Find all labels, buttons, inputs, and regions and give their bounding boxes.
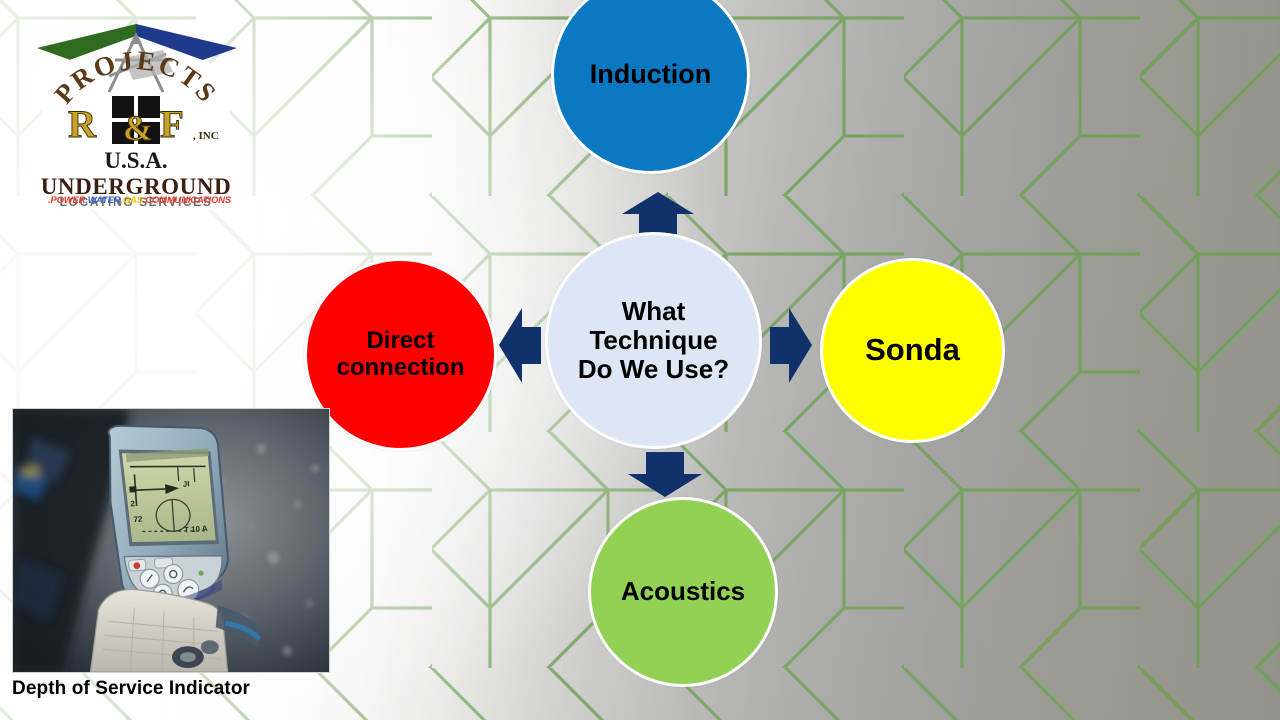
photo-caption: Depth of Service Indicator [12, 678, 250, 700]
logo-service-power: .POWER [48, 195, 85, 206]
svg-text:R: R [68, 103, 97, 146]
node-acoustics[interactable]: Acoustics [588, 497, 778, 687]
company-logo: PROJECTS R & F , INC U.S.A. UNDERGROUND … [23, 14, 251, 210]
svg-text:, INC: , INC [193, 130, 219, 142]
slide-canvas: PROJECTS R & F , INC U.S.A. UNDERGROUND … [0, 0, 1280, 720]
svg-text:&: & [123, 108, 153, 148]
photo-figure: 2 72 JI T 10 A [12, 408, 330, 673]
node-induction-label: Induction [580, 59, 721, 89]
node-acoustics-label: Acoustics [611, 577, 755, 606]
svg-text:F: F [160, 103, 184, 146]
logo-service-gas: .GAS [120, 195, 142, 206]
center-line3: Do We Use? [578, 354, 729, 384]
node-center-question-label: What Technique Do We Use? [568, 297, 739, 384]
arrow-down-icon [628, 452, 702, 497]
node-direct-connection[interactable]: Direct connection [304, 258, 497, 451]
node-sonda-label: Sonda [855, 333, 970, 368]
logo-service-communications: .COMMUNICATIONS [143, 195, 231, 206]
arrow-left-icon [499, 308, 541, 383]
svg-text:JI: JI [183, 479, 190, 488]
node-sonda[interactable]: Sonda [820, 258, 1005, 443]
logo-services-line: .POWER .WATER .GAS .COMMUNICATIONS [48, 193, 228, 207]
locator-device-photo: 2 72 JI T 10 A [12, 408, 330, 673]
node-center-question[interactable]: What Technique Do We Use? [545, 232, 762, 449]
arrow-up-icon [622, 192, 694, 234]
node-direct-connection-line1: Direct [366, 327, 434, 354]
center-line2: Technique [589, 325, 717, 355]
svg-text:T 10 A: T 10 A [184, 524, 208, 535]
svg-text:72: 72 [133, 514, 143, 524]
arrow-right-icon [770, 308, 812, 383]
center-line1: What [622, 296, 686, 326]
node-direct-connection-label: Direct connection [326, 328, 474, 382]
logo-service-water: .WATER [85, 195, 120, 206]
node-direct-connection-line2: connection [336, 354, 464, 381]
svg-text:U.S.A.: U.S.A. [104, 148, 167, 173]
